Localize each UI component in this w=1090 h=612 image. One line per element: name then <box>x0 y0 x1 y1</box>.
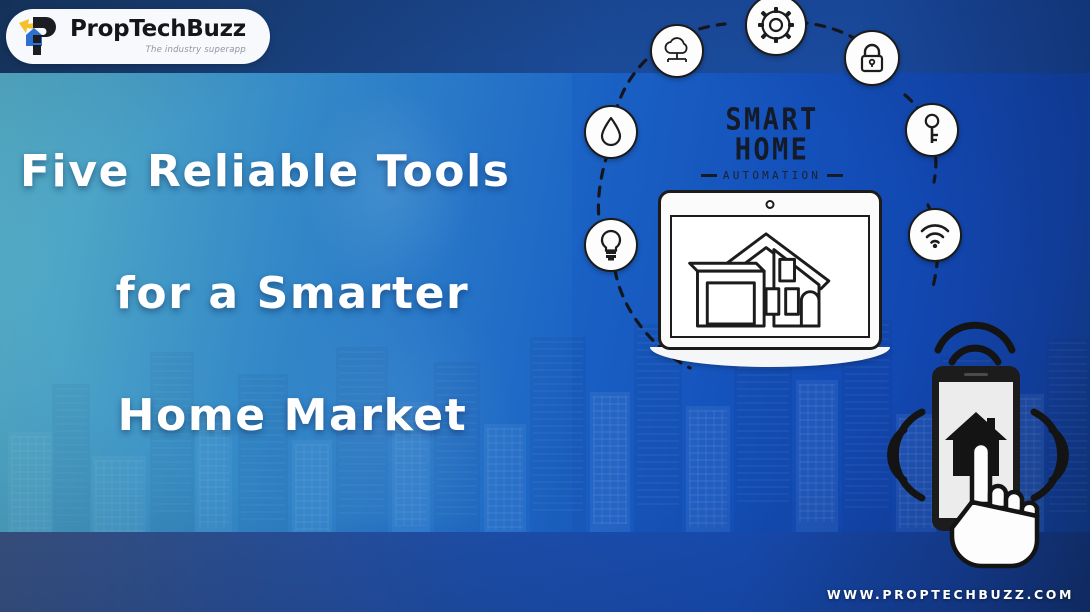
laptop-base <box>650 347 890 367</box>
signal-wave-left-icon <box>874 396 936 514</box>
water-drop-icon[interactable] <box>584 105 638 159</box>
headline-line-2: for a Smarter <box>0 272 575 316</box>
laptop-camera-icon <box>766 200 775 209</box>
wifi-icon[interactable] <box>908 208 962 262</box>
phone-speaker <box>964 373 988 376</box>
smart-home-title-sub: AUTOMATION <box>723 169 821 182</box>
cloud-network-icon[interactable] <box>650 24 704 78</box>
smart-home-title: SMART HOME AUTOMATION <box>684 108 860 182</box>
title-dash-left <box>701 174 717 177</box>
lock-icon[interactable] <box>844 30 900 86</box>
title-dash-right <box>827 174 843 177</box>
lightbulb-icon[interactable] <box>584 218 638 272</box>
laptop-with-house-icon <box>650 190 890 365</box>
promo-banner: PropTechBuzz The industry superapp Five … <box>0 0 1090 612</box>
logo-tagline: The industry superapp <box>146 46 246 55</box>
smart-home-title-main: SMART HOME <box>684 105 860 165</box>
key-icon[interactable] <box>905 103 959 157</box>
pointing-hand-icon <box>938 436 1058 586</box>
logo-wordmark: PropTechBuzz <box>70 18 246 41</box>
headline-line-3: Home Market <box>0 394 575 438</box>
laptop-screen <box>670 215 870 338</box>
laptop-lid <box>658 190 882 350</box>
brand-logo[interactable]: PropTechBuzz The industry superapp <box>6 9 270 64</box>
website-url[interactable]: WWW.PROPTECHBUZZ.COM <box>827 587 1074 602</box>
p-monogram-icon <box>16 15 64 59</box>
headline-block: Five Reliable Tools for a Smarter Home M… <box>0 150 575 438</box>
headline-line-1: Five Reliable Tools <box>0 150 575 194</box>
house-line-drawing-icon <box>672 217 868 336</box>
smartphone-with-house-and-pointing-hand <box>880 318 1090 583</box>
